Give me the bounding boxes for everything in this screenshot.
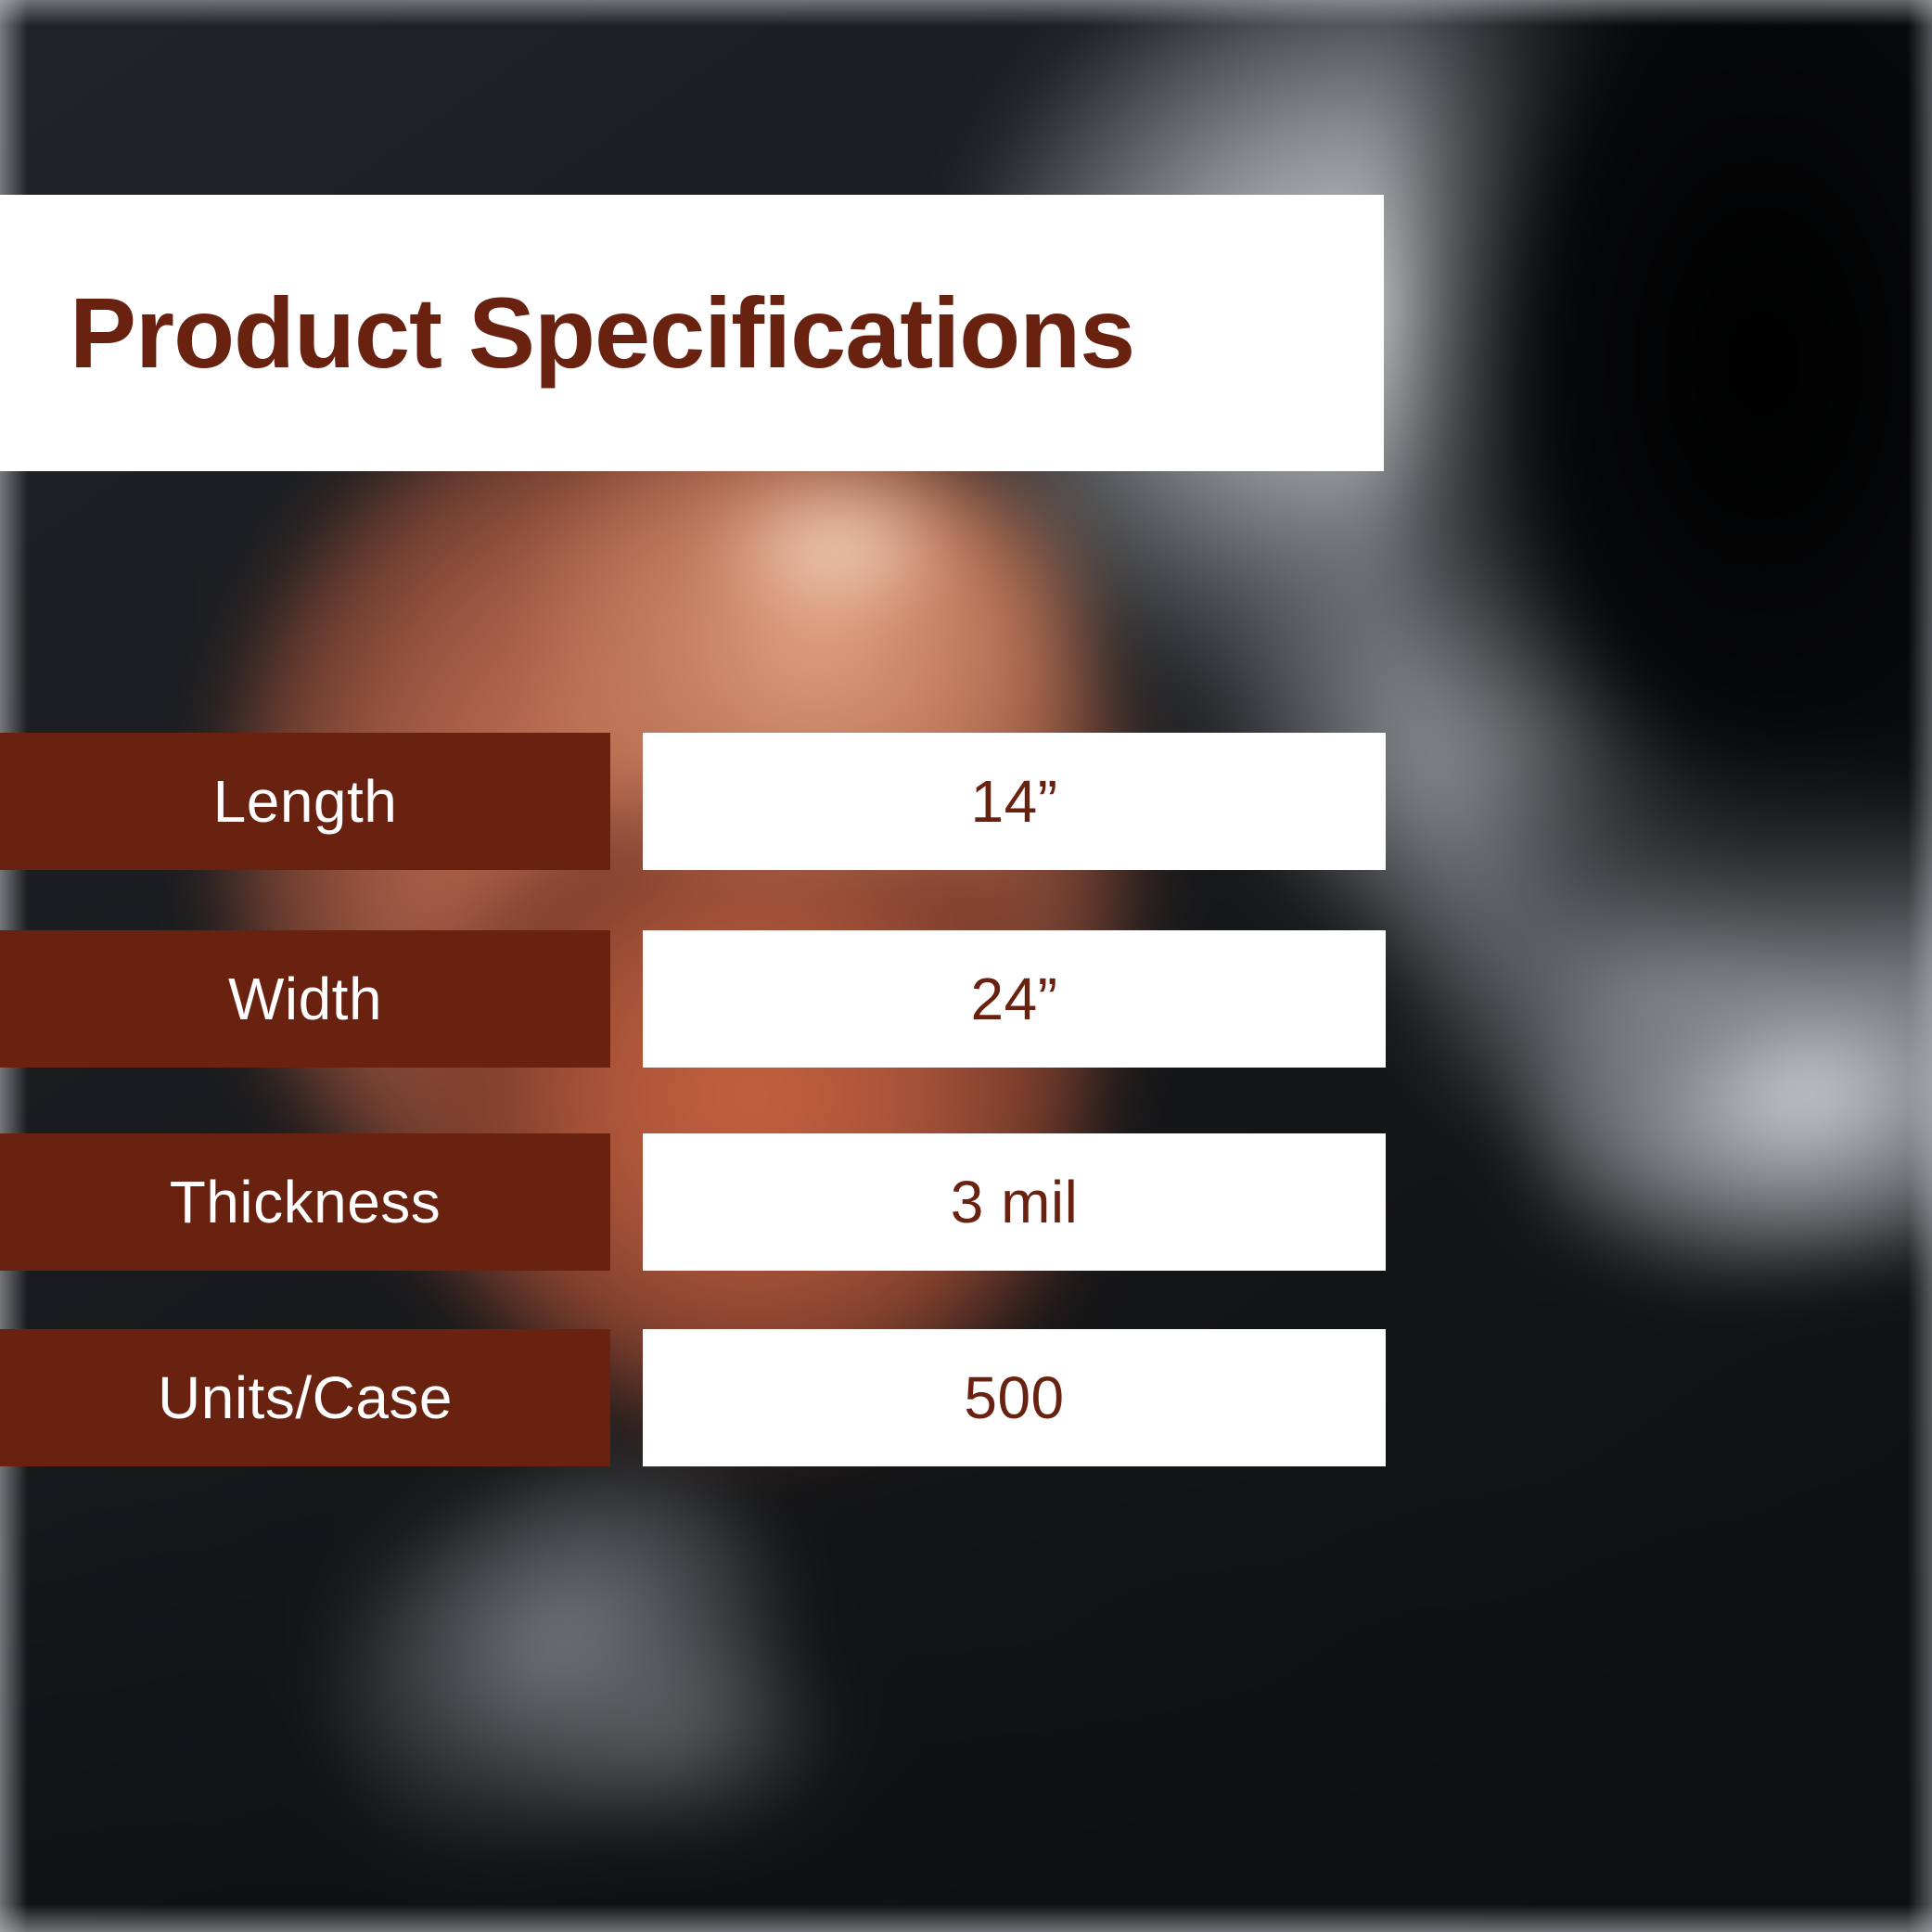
spec-label-text: Units/Case (158, 1368, 453, 1427)
spec-label-text: Length (213, 772, 398, 831)
spec-row-thickness: Thickness 3 mil (0, 1133, 1386, 1271)
spec-row-length: Length 14” (0, 733, 1386, 870)
spec-label-cell: Width (0, 930, 610, 1068)
product-spec-card: Product Specifications Length 14” Width … (0, 0, 1932, 1932)
spec-value-cell: 3 mil (643, 1133, 1386, 1271)
spec-value-text: 14” (971, 772, 1058, 831)
spec-label-text: Thickness (170, 1172, 441, 1232)
spec-label-text: Width (228, 969, 382, 1029)
spec-value-cell: 24” (643, 930, 1386, 1068)
spec-value-cell: 500 (643, 1329, 1386, 1466)
spec-row-units-per-case: Units/Case 500 (0, 1329, 1386, 1466)
spec-value-text: 3 mil (951, 1172, 1079, 1232)
title-banner: Product Specifications (0, 195, 1384, 471)
spec-row-width: Width 24” (0, 930, 1386, 1068)
spec-label-cell: Units/Case (0, 1329, 610, 1466)
page-title: Product Specifications (70, 283, 1134, 383)
spec-value-cell: 14” (643, 733, 1386, 870)
spec-value-text: 500 (964, 1368, 1064, 1427)
spec-label-cell: Length (0, 733, 610, 870)
spec-label-cell: Thickness (0, 1133, 610, 1271)
spec-value-text: 24” (971, 969, 1058, 1029)
